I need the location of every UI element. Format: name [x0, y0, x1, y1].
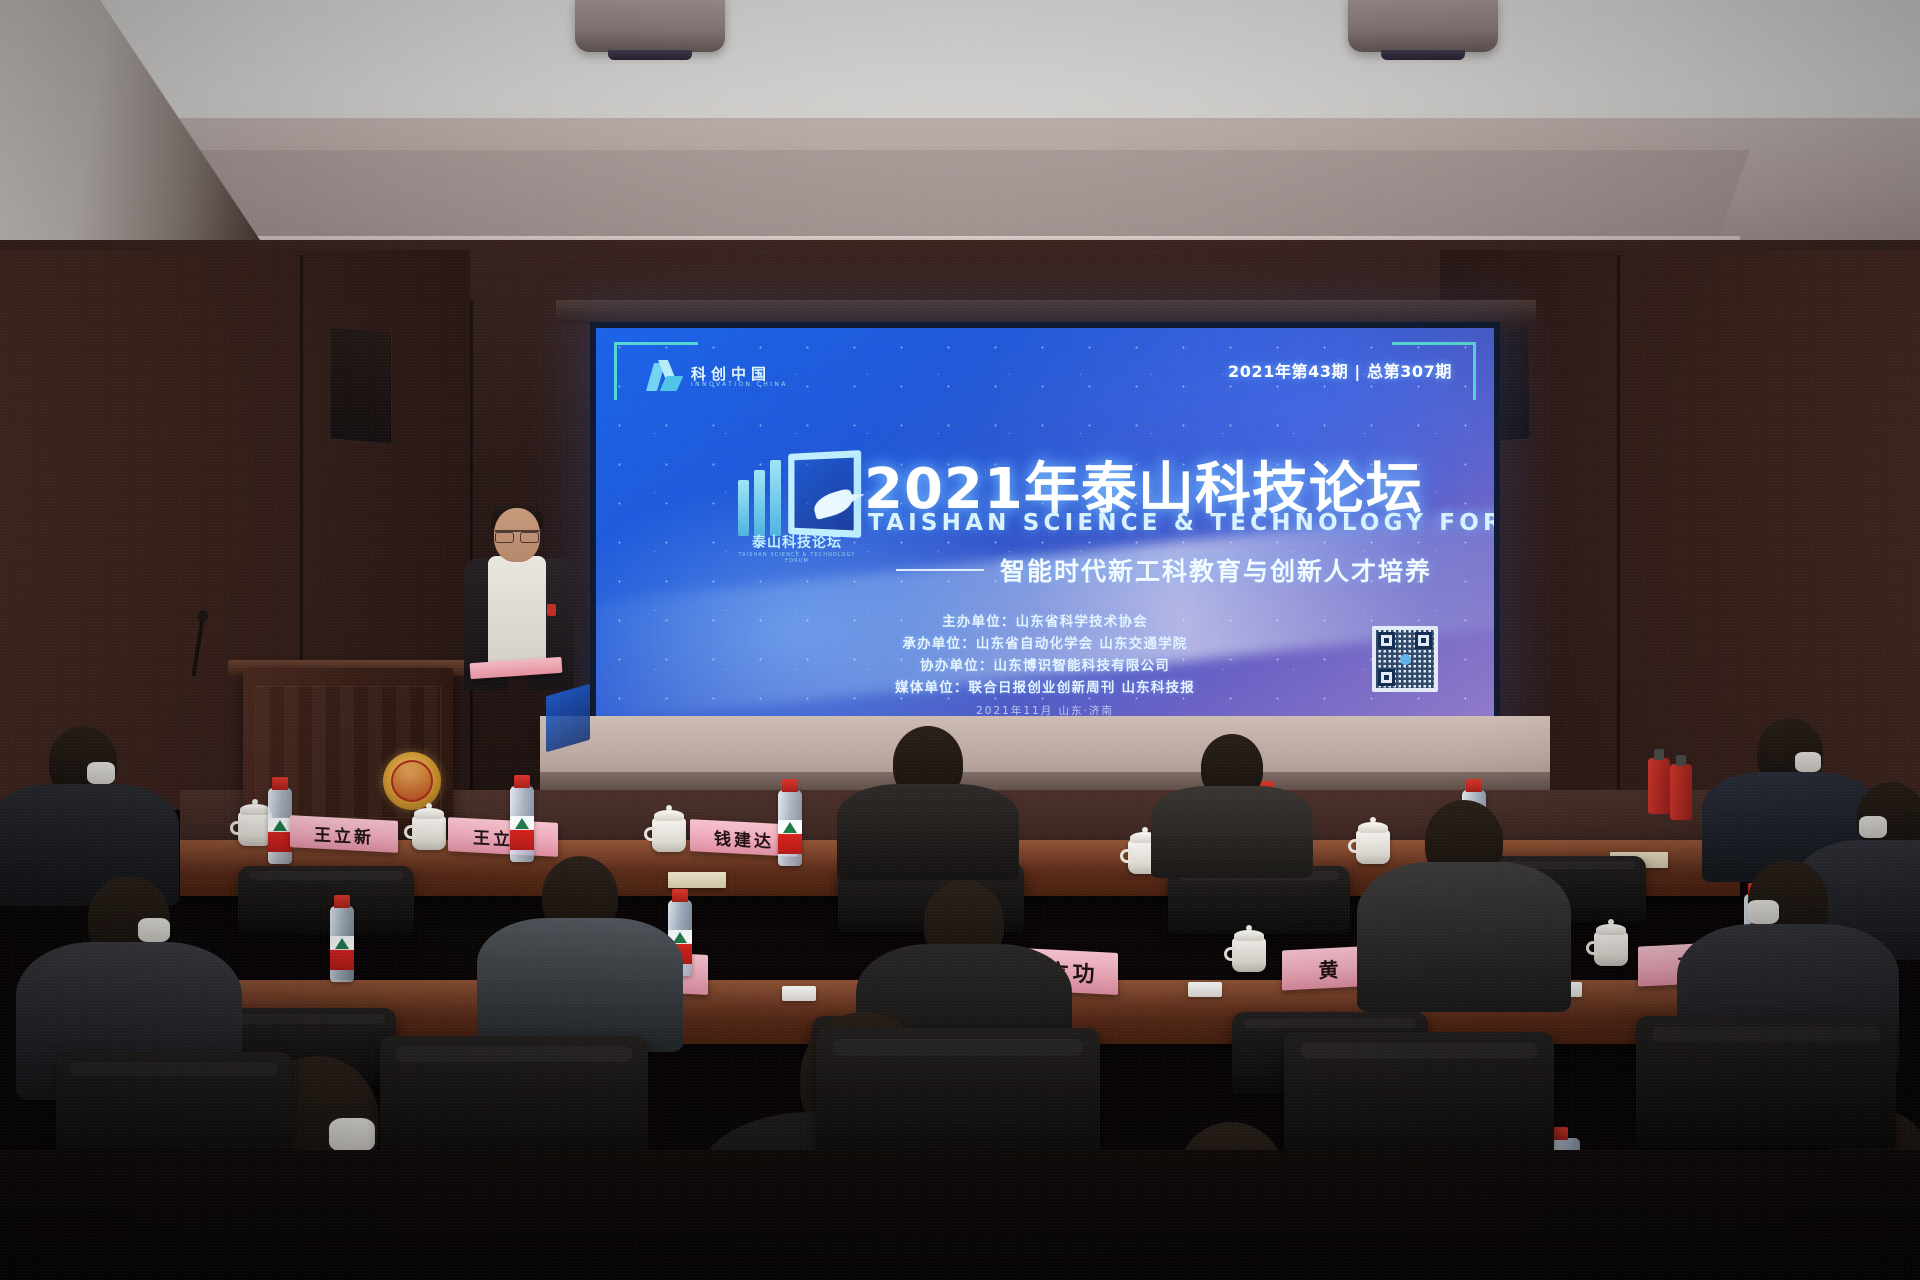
slide-footer: 2021年11月 山东·济南 [596, 703, 1494, 716]
chair [1284, 1032, 1554, 1168]
organizer-block: 主办单位：山东省科学技术协会 承办单位：山东省自动化学会 山东交通学院 协办单位… [596, 612, 1494, 716]
organizer-line: 主办单位：山东省科学技术协会 [596, 612, 1494, 634]
wall-speaker-left-icon [330, 327, 392, 444]
tissue-pack [1188, 982, 1222, 997]
ceiling-projector-left-icon [575, 0, 725, 52]
qr-code-icon [1372, 626, 1438, 692]
water-bottle [330, 906, 354, 982]
forum-emblem-icon: 泰山科技论坛 TAISHAN SCIENCE & TECHNOLOGY FORU… [736, 446, 866, 564]
fire-extinguisher-icon [1648, 758, 1670, 814]
lapel-badge-icon [547, 604, 556, 616]
projection-screen: 科创中国 INNOVATION CHINA 2021年第43期 | 总第307期… [596, 328, 1494, 716]
projection-screen-frame: 科创中国 INNOVATION CHINA 2021年第43期 | 总第307期… [590, 322, 1500, 722]
fire-extinguisher-icon [1670, 764, 1692, 820]
institution-seal-emblem-icon [383, 752, 441, 810]
tissue-pack [782, 986, 816, 1001]
forum-emblem-cn: 泰山科技论坛 [736, 532, 858, 552]
foreground-floor [0, 1150, 1920, 1280]
organizer-line: 承办单位：山东省自动化学会 山东交通学院 [596, 634, 1494, 656]
teacup [652, 818, 686, 852]
organizer-line: 媒体单位：联合日报创业创新周刊 山东科技报 [596, 678, 1494, 700]
attendee [1166, 730, 1298, 878]
slide-subtitle: 智能时代新工科教育与创新人才培养 [1000, 552, 1432, 588]
presenting-speaker [462, 508, 574, 708]
water-bottle [510, 786, 534, 862]
subtitle-rule [896, 569, 984, 571]
conference-room-photo: 科创中国 INNOVATION CHINA 2021年第43期 | 总第307期… [0, 0, 1920, 1280]
teacup [412, 816, 446, 850]
name-placard: 王立新 [448, 817, 558, 857]
innovation-china-cn: 科创中国 [691, 366, 788, 382]
glasses-icon [495, 530, 539, 539]
slide-subtitle-row: 智能时代新工科教育与创新人才培养 [896, 552, 1432, 588]
forum-emblem-en: TAISHAN SCIENCE & TECHNOLOGY FORUM [736, 552, 858, 564]
chair [1636, 1016, 1896, 1148]
notepad [668, 872, 726, 888]
chair [816, 1028, 1100, 1168]
water-bottle [778, 790, 802, 866]
attendee [858, 724, 998, 874]
innovation-china-en: INNOVATION CHINA [691, 382, 788, 388]
teacup [1594, 932, 1628, 966]
organizer-line: 协办单位：山东博识智能科技有限公司 [596, 656, 1494, 678]
chair [380, 1036, 648, 1166]
attendee [500, 856, 660, 1056]
issue-label: 2021年第43期 | 总第307期 [1228, 358, 1452, 382]
screen-valance [556, 300, 1536, 324]
wall-seam [1617, 255, 1620, 800]
chair [238, 866, 414, 934]
slide-headline-en: TAISHAN SCIENCE & TECHNOLOGY FORUM [868, 510, 1494, 536]
innovation-china-mark-icon [648, 360, 682, 394]
water-bottle [268, 788, 292, 864]
ceiling-projector-right-icon [1348, 0, 1498, 52]
teacup [238, 812, 272, 846]
innovation-china-logo: 科创中国 INNOVATION CHINA [648, 360, 788, 394]
attendee [1380, 800, 1548, 1020]
name-placard: 王立新 [290, 815, 398, 853]
teacup [1232, 938, 1266, 972]
